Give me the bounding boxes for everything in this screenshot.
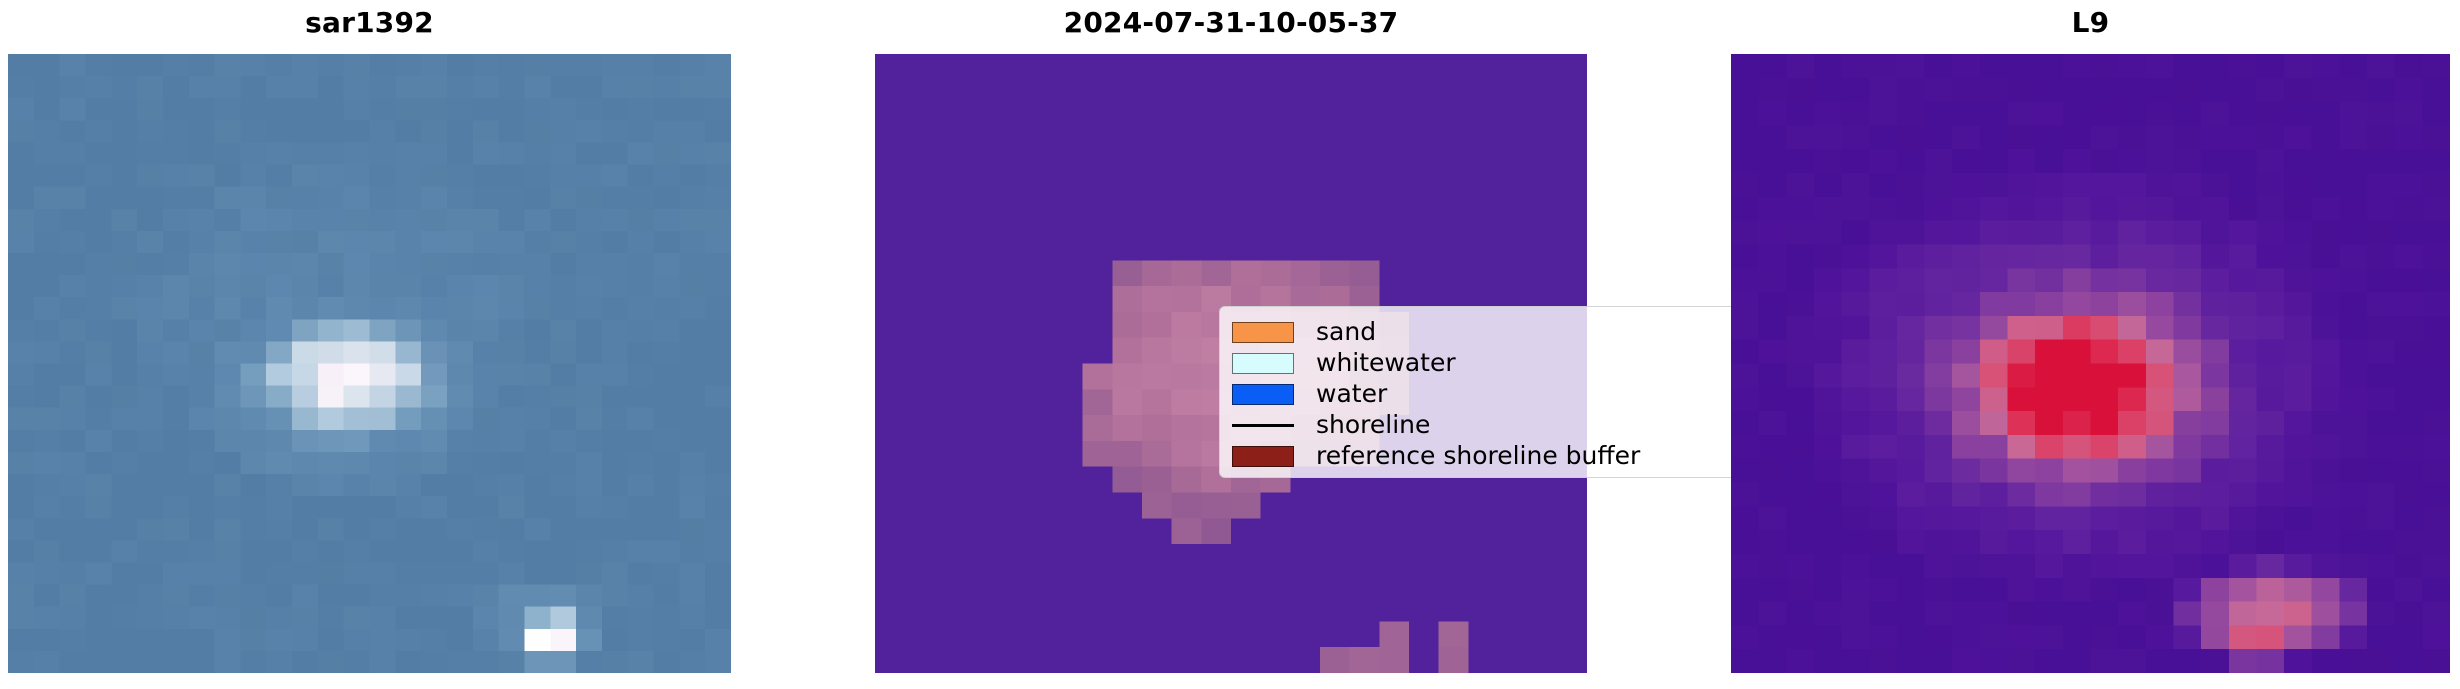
panel-title-sar: sar1392 — [8, 6, 731, 40]
panel-classified: 2024-07-31-10-05-37 sand whitewater wate… — [875, 0, 1587, 689]
l9-heatmap-image — [1731, 54, 2450, 673]
legend-label-whitewater: whitewater — [1316, 348, 1456, 378]
figure-canvas: sar1392 2024-07-31-10-05-37 sand whitewa… — [0, 0, 2460, 689]
axes-l9 — [1731, 54, 2450, 673]
panel-l9: L9 — [1731, 0, 2450, 689]
legend-swatch-reference-shoreline-buffer — [1232, 446, 1294, 467]
legend-label-shoreline: shoreline — [1316, 410, 1430, 440]
legend-label-reference-shoreline-buffer: reference shoreline buffer — [1316, 441, 1640, 471]
sar-heatmap-image — [8, 54, 731, 673]
legend-swatch-sand — [1232, 322, 1294, 343]
panel-title-classified: 2024-07-31-10-05-37 — [875, 6, 1587, 40]
panel-title-l9: L9 — [1731, 6, 2450, 40]
legend-label-water: water — [1316, 379, 1387, 409]
panel-sar: sar1392 — [8, 0, 731, 689]
legend-label-sand: sand — [1316, 317, 1376, 347]
legend-swatch-whitewater — [1232, 353, 1294, 374]
legend-swatch-water — [1232, 384, 1294, 405]
axes-sar — [8, 54, 731, 673]
legend-swatch-shoreline — [1232, 424, 1294, 427]
